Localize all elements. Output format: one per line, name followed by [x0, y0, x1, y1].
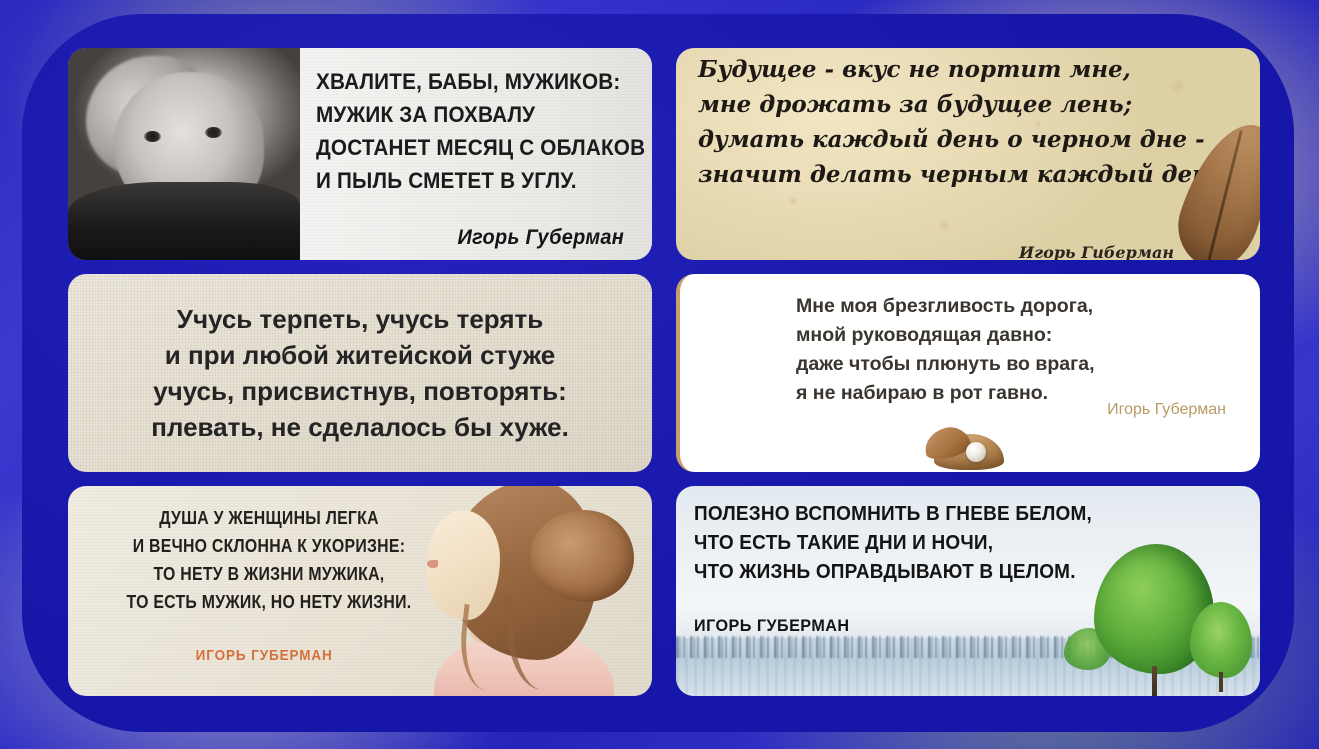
- quote-card-parchment[interactable]: Будущее - вкус не портит мне, мне дрожат…: [676, 48, 1260, 260]
- quote-text-block: ХВАЛИТЕ, БАБЫ, МУЖИКОВ: МУЖИК ЗА ПОХВАЛУ…: [300, 48, 652, 260]
- quote-line: И ПЫЛЬ СМЕТЕТ В УГЛУ.: [316, 164, 601, 197]
- quote-line: ДУША У ЖЕНЩИНЫ ЛЕГКА: [124, 504, 414, 532]
- quote-card-portrait[interactable]: ХВАЛИТЕ, БАБЫ, МУЖИКОВ: МУЖИК ЗА ПОХВАЛУ…: [68, 48, 652, 260]
- quote-line: Будущее - вкус не портит мне,: [698, 52, 1148, 87]
- quote-text-block: Будущее - вкус не портит мне, мне дрожат…: [698, 58, 1148, 192]
- tree-small-icon: [1190, 602, 1252, 678]
- quote-line: думать каждый день о черном дне -: [698, 122, 1148, 157]
- quote-line: мной руководящая давно:: [796, 321, 1196, 350]
- torso-shape-icon: [68, 182, 300, 260]
- quote-text-block: ПОЛЕЗНО ВСПОМНИТЬ В ГНЕВЕ БЕЛОМ, ЧТО ЕСТ…: [694, 500, 1114, 587]
- left-eye-icon: [144, 131, 161, 142]
- quote-line: и при любой житейской стуже: [165, 337, 556, 373]
- collage-stage: ХВАЛИТЕ, БАБЫ, МУЖИКОВ: МУЖИК ЗА ПОХВАЛУ…: [0, 0, 1319, 749]
- right-eye-icon: [205, 127, 222, 138]
- quote-line: Учусь терпеть, учусь терять: [177, 301, 543, 337]
- quote-card-lake[interactable]: ПОЛЕЗНО ВСПОМНИТЬ В ГНЕВЕ БЕЛОМ, ЧТО ЕСТ…: [676, 486, 1260, 696]
- quote-line: МУЖИК ЗА ПОХВАЛУ: [316, 98, 601, 131]
- quote-line: И ВЕЧНО СКЛОННА К УКОРИЗНЕ:: [124, 532, 414, 560]
- quote-card-woman[interactable]: ДУША У ЖЕНЩИНЫ ЛЕГКА И ВЕЧНО СКЛОННА К У…: [68, 486, 652, 696]
- quote-card-linen[interactable]: Учусь терпеть, учусь терять и при любой …: [68, 274, 652, 472]
- quote-author: ИГОРЬ ГУБЕРМАН: [694, 616, 850, 636]
- quote-line: Мне моя брезгливость дорога,: [796, 292, 1196, 321]
- quote-line: ТО НЕТУ В ЖИЗНИ МУЖИКА,: [124, 560, 414, 588]
- quote-line: мне дрожать за будущее лень;: [698, 87, 1148, 122]
- quote-card-grid: ХВАЛИТЕ, БАБЫ, МУЖИКОВ: МУЖИК ЗА ПОХВАЛУ…: [68, 48, 1248, 696]
- quote-line: учусь, присвистнув, повторять:: [153, 373, 567, 409]
- hair-bun-icon: [530, 510, 634, 602]
- quote-card-white[interactable]: Мне моя брезгливость дорога, мной руково…: [676, 274, 1260, 472]
- quote-line: значит делать черным каждый день.: [698, 157, 1148, 192]
- quote-text-block: ДУША У ЖЕНЩИНЫ ЛЕГКА И ВЕЧНО СКЛОННА К У…: [104, 504, 434, 616]
- quote-line: ПОЛЕЗНО ВСПОМНИТЬ В ГНЕВЕ БЕЛОМ,: [694, 500, 1093, 529]
- quote-line: ЧТО ЖИЗНЬ ОПРАВДЫВАЮТ В ЦЕЛОМ.: [694, 558, 1093, 587]
- quote-line: ТО ЕСТЬ МУЖИК, НО НЕТУ ЖИЗНИ.: [124, 588, 414, 616]
- quote-author: ИГОРЬ ГУБЕРМАН: [196, 647, 333, 664]
- quote-author: Игорь Губерман: [1107, 401, 1226, 419]
- quote-line: даже чтобы плюнуть во врага,: [796, 350, 1196, 379]
- quote-line: ЧТО ЕСТЬ ТАКИЕ ДНИ И НОЧИ,: [694, 529, 1093, 558]
- quote-author: Игорь Губерман: [332, 226, 627, 250]
- quote-text-block: Мне моя брезгливость дорога, мной руково…: [796, 292, 1196, 408]
- quote-line: ДОСТАНЕТ МЕСЯЦ С ОБЛАКОВ: [316, 131, 601, 164]
- lips-icon: [427, 560, 438, 568]
- quote-author: Игорь Гиберман: [1019, 243, 1174, 260]
- pearl-icon: [966, 442, 986, 462]
- quote-line: плевать, не сделалось бы хуже.: [151, 409, 569, 445]
- quote-line: ХВАЛИТЕ, БАБЫ, МУЖИКОВ:: [316, 65, 601, 98]
- seashell-pearl-icon: [924, 428, 1008, 470]
- woman-illustration: [412, 486, 652, 696]
- portrait-photo: [68, 48, 300, 260]
- blue-rounded-frame: ХВАЛИТЕ, БАБЫ, МУЖИКОВ: МУЖИК ЗА ПОХВАЛУ…: [22, 14, 1294, 732]
